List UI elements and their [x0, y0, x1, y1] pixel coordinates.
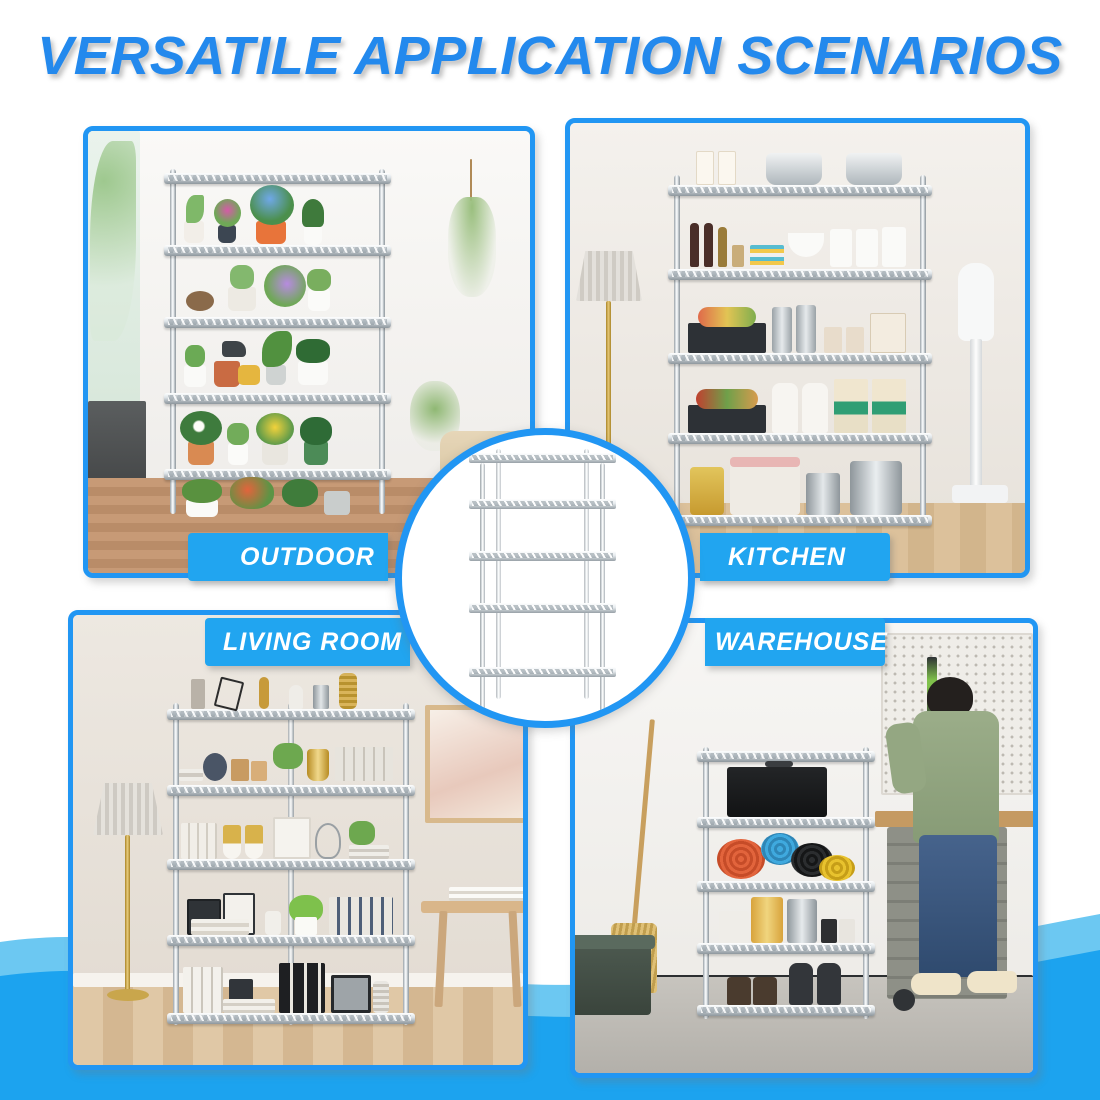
rack-shelf-4: [697, 943, 875, 954]
metal-container: [806, 473, 840, 515]
rack-shelf-2: [167, 785, 415, 796]
plant-pot: [184, 221, 204, 243]
rack-post-left: [674, 175, 680, 525]
hero-shelf-4: [469, 603, 616, 613]
hero-foot-right: [599, 711, 606, 719]
magazine-stack: [449, 887, 528, 901]
oil-jug: [690, 467, 724, 515]
garden-gloves: [238, 365, 260, 385]
hero-post-back-left: [496, 449, 501, 699]
plant-foliage: [185, 345, 205, 367]
bin-lid: [730, 457, 800, 467]
flour-bag: [834, 379, 868, 433]
small-jar: [821, 919, 837, 943]
hero-product-circle[interactable]: [395, 428, 695, 728]
plant-foliage: [282, 479, 318, 507]
storage-basket: [688, 323, 766, 353]
cereal-box: [718, 151, 736, 185]
plant-foliage: [307, 269, 331, 291]
canister: [830, 229, 852, 267]
milk-jug: [772, 383, 798, 433]
small-jar: [839, 919, 855, 943]
hero-shelving-unit: [480, 463, 605, 713]
work-boot: [727, 977, 751, 1005]
living-room-shelving-rack: [173, 703, 409, 1025]
plant-foliage: [262, 331, 292, 367]
panel-label-outdoor: OUTDOOR: [188, 533, 388, 581]
hanging-planter: [470, 159, 472, 201]
photo-frame: [331, 975, 371, 1013]
plant-foliage: [264, 265, 306, 307]
warehouse-shelving-rack: [703, 747, 869, 1019]
plant-foliage: [180, 411, 222, 445]
decor-sphere: [203, 753, 227, 781]
paint-bucket: [719, 911, 749, 943]
metal-canister: [796, 305, 816, 353]
sauce-jar: [824, 327, 842, 353]
rack-shelf-1: [167, 709, 415, 720]
hero-shelf-2: [469, 499, 616, 509]
rack-shelf-2: [164, 245, 391, 256]
extension-cord: [819, 855, 855, 881]
plant-foliage: [230, 477, 274, 509]
books-stack: [191, 919, 249, 935]
metal-can: [787, 899, 817, 943]
person-shoe: [967, 971, 1017, 993]
hero-foot-left: [479, 711, 486, 719]
sauce-jar: [846, 327, 864, 353]
panel-label-living-room-text: LIVING ROOM: [223, 628, 402, 657]
panel-label-warehouse: WAREHOUSE: [705, 618, 885, 666]
book-row: [181, 823, 217, 859]
books-stack: [179, 769, 203, 781]
outdoor-shelving-rack: [170, 169, 385, 514]
wine-glass: [223, 825, 241, 859]
food-package: [870, 313, 906, 353]
rack-shelf-2: [697, 817, 875, 828]
plant-pot: [228, 287, 256, 311]
hero-shelf-3: [469, 551, 616, 561]
page-title-container: VERSATILE APPLICATION SCENARIOS: [0, 0, 1100, 112]
plant-foliage: [256, 413, 294, 445]
decor-gold-vase: [339, 673, 357, 709]
rack-shelf-2: [668, 269, 932, 280]
plant-pot: [184, 365, 206, 387]
storage-bin: [730, 461, 800, 515]
produce-basket: [688, 405, 766, 433]
spice-jar: [732, 245, 744, 267]
book-row: [329, 897, 393, 935]
plant-pot: [218, 225, 236, 243]
person-shoe: [911, 973, 961, 995]
decor-vase: [373, 981, 389, 1013]
gold-vase: [307, 749, 329, 781]
plant-foliage: [302, 199, 324, 227]
hanging-plant-foliage: [448, 197, 496, 297]
panel-label-kitchen-text: KITCHEN: [728, 543, 846, 572]
rain-boot: [789, 963, 813, 1005]
page-title: VERSATILE APPLICATION SCENARIOS: [37, 25, 1063, 87]
rack-shelf-5: [668, 515, 932, 526]
rack-shelf-4: [167, 935, 415, 946]
metal-canister: [772, 307, 792, 353]
book-row: [335, 747, 393, 781]
panel-label-outdoor-text: OUTDOOR: [240, 543, 375, 572]
stacked-plates: [750, 245, 784, 267]
person-jeans: [919, 835, 997, 977]
rack-shelf-3: [668, 353, 932, 364]
rack-post-right: [920, 175, 926, 525]
photo-frame: [273, 817, 311, 859]
storage-tote: [570, 941, 651, 1015]
decor-sculpture: [315, 823, 341, 859]
canister: [882, 227, 906, 267]
flour-bag: [872, 379, 906, 433]
lamp-base: [107, 989, 149, 1001]
panel-label-kitchen: KITCHEN: [700, 533, 890, 581]
tote-lid: [570, 935, 655, 949]
vegetables: [696, 389, 758, 409]
garden-trowel: [222, 341, 246, 357]
cooking-pot: [846, 153, 902, 185]
panel-label-warehouse-text: WAREHOUSE: [715, 628, 888, 657]
rack-shelf-4: [164, 393, 391, 404]
stick-vacuum-head: [952, 485, 1008, 503]
wine-bottle: [704, 223, 713, 267]
plant-pot: [295, 917, 317, 935]
plant-foliage: [230, 265, 254, 289]
plant-foliage: [214, 199, 241, 227]
wine-glass: [245, 825, 263, 859]
white-bowl: [788, 233, 824, 257]
rack-post-right: [379, 169, 385, 514]
rain-boot: [817, 963, 841, 1005]
potted-plant: [273, 743, 303, 769]
hero-shelf-5: [469, 667, 616, 677]
books-stack: [349, 845, 389, 859]
canister: [856, 229, 878, 267]
fruit: [698, 307, 756, 327]
plant-pot: [228, 443, 248, 465]
rack-shelf-3: [697, 881, 875, 892]
plant-pot: [298, 361, 328, 385]
watering-can: [324, 491, 350, 515]
wooden-box: [251, 761, 267, 781]
rack-shelf-3: [164, 317, 391, 328]
stick-vacuum-body: [958, 263, 994, 341]
cabinet-caster: [893, 989, 915, 1011]
cereal-box: [696, 151, 714, 185]
plant-pot: [308, 289, 330, 311]
toolbox-handle: [765, 761, 793, 767]
wine-bottle: [690, 223, 699, 267]
lamp-pole: [125, 835, 130, 995]
work-boot: [753, 977, 777, 1005]
black-toolbox: [727, 767, 827, 817]
plant-pot: [186, 291, 214, 311]
wooden-box: [231, 759, 249, 781]
plant-foliage: [300, 417, 332, 445]
books-stack: [223, 999, 275, 1013]
milk-jug: [802, 383, 828, 433]
plant-pot: [304, 225, 322, 245]
extension-cord: [717, 839, 765, 879]
hero-post-back-right: [584, 449, 589, 699]
decor-canister: [313, 685, 329, 709]
plant-foliage: [296, 339, 330, 363]
lamp-shade: [93, 783, 163, 835]
decor-candlestick: [289, 685, 303, 709]
rack-shelf-5: [167, 1013, 415, 1024]
floor-lamp-shade: [576, 251, 642, 301]
decor-vase: [191, 679, 205, 709]
plant-foliage: [250, 185, 294, 225]
stock-pot: [850, 461, 902, 515]
plant-pot: [266, 365, 286, 385]
rack-shelf-1: [164, 173, 391, 184]
oil-bottle: [718, 227, 727, 267]
outdoor-window-foliage: [90, 141, 136, 341]
hero-shelf-1: [469, 453, 616, 463]
rack-shelf-4: [668, 433, 932, 444]
book-row: [279, 963, 325, 1013]
paint-can: [751, 897, 783, 943]
rack-shelf-1: [668, 185, 932, 196]
book-row: [183, 967, 223, 1013]
garden-pot: [214, 361, 240, 387]
rack-shelf-5: [697, 1005, 875, 1016]
plant-foliage: [182, 479, 222, 503]
panel-label-living-room: LIVING ROOM: [205, 618, 410, 666]
rack-shelf-3: [167, 859, 415, 870]
stick-vacuum-pole: [970, 339, 982, 489]
rack-post-left: [170, 169, 176, 514]
potted-plant: [349, 821, 375, 845]
decor-vase: [265, 911, 281, 935]
kitchen-shelving-rack: [674, 175, 926, 525]
plant-foliage: [227, 423, 249, 445]
decor-figurine: [259, 677, 269, 709]
plant-foliage: [186, 195, 204, 223]
cooking-pot: [766, 153, 822, 185]
